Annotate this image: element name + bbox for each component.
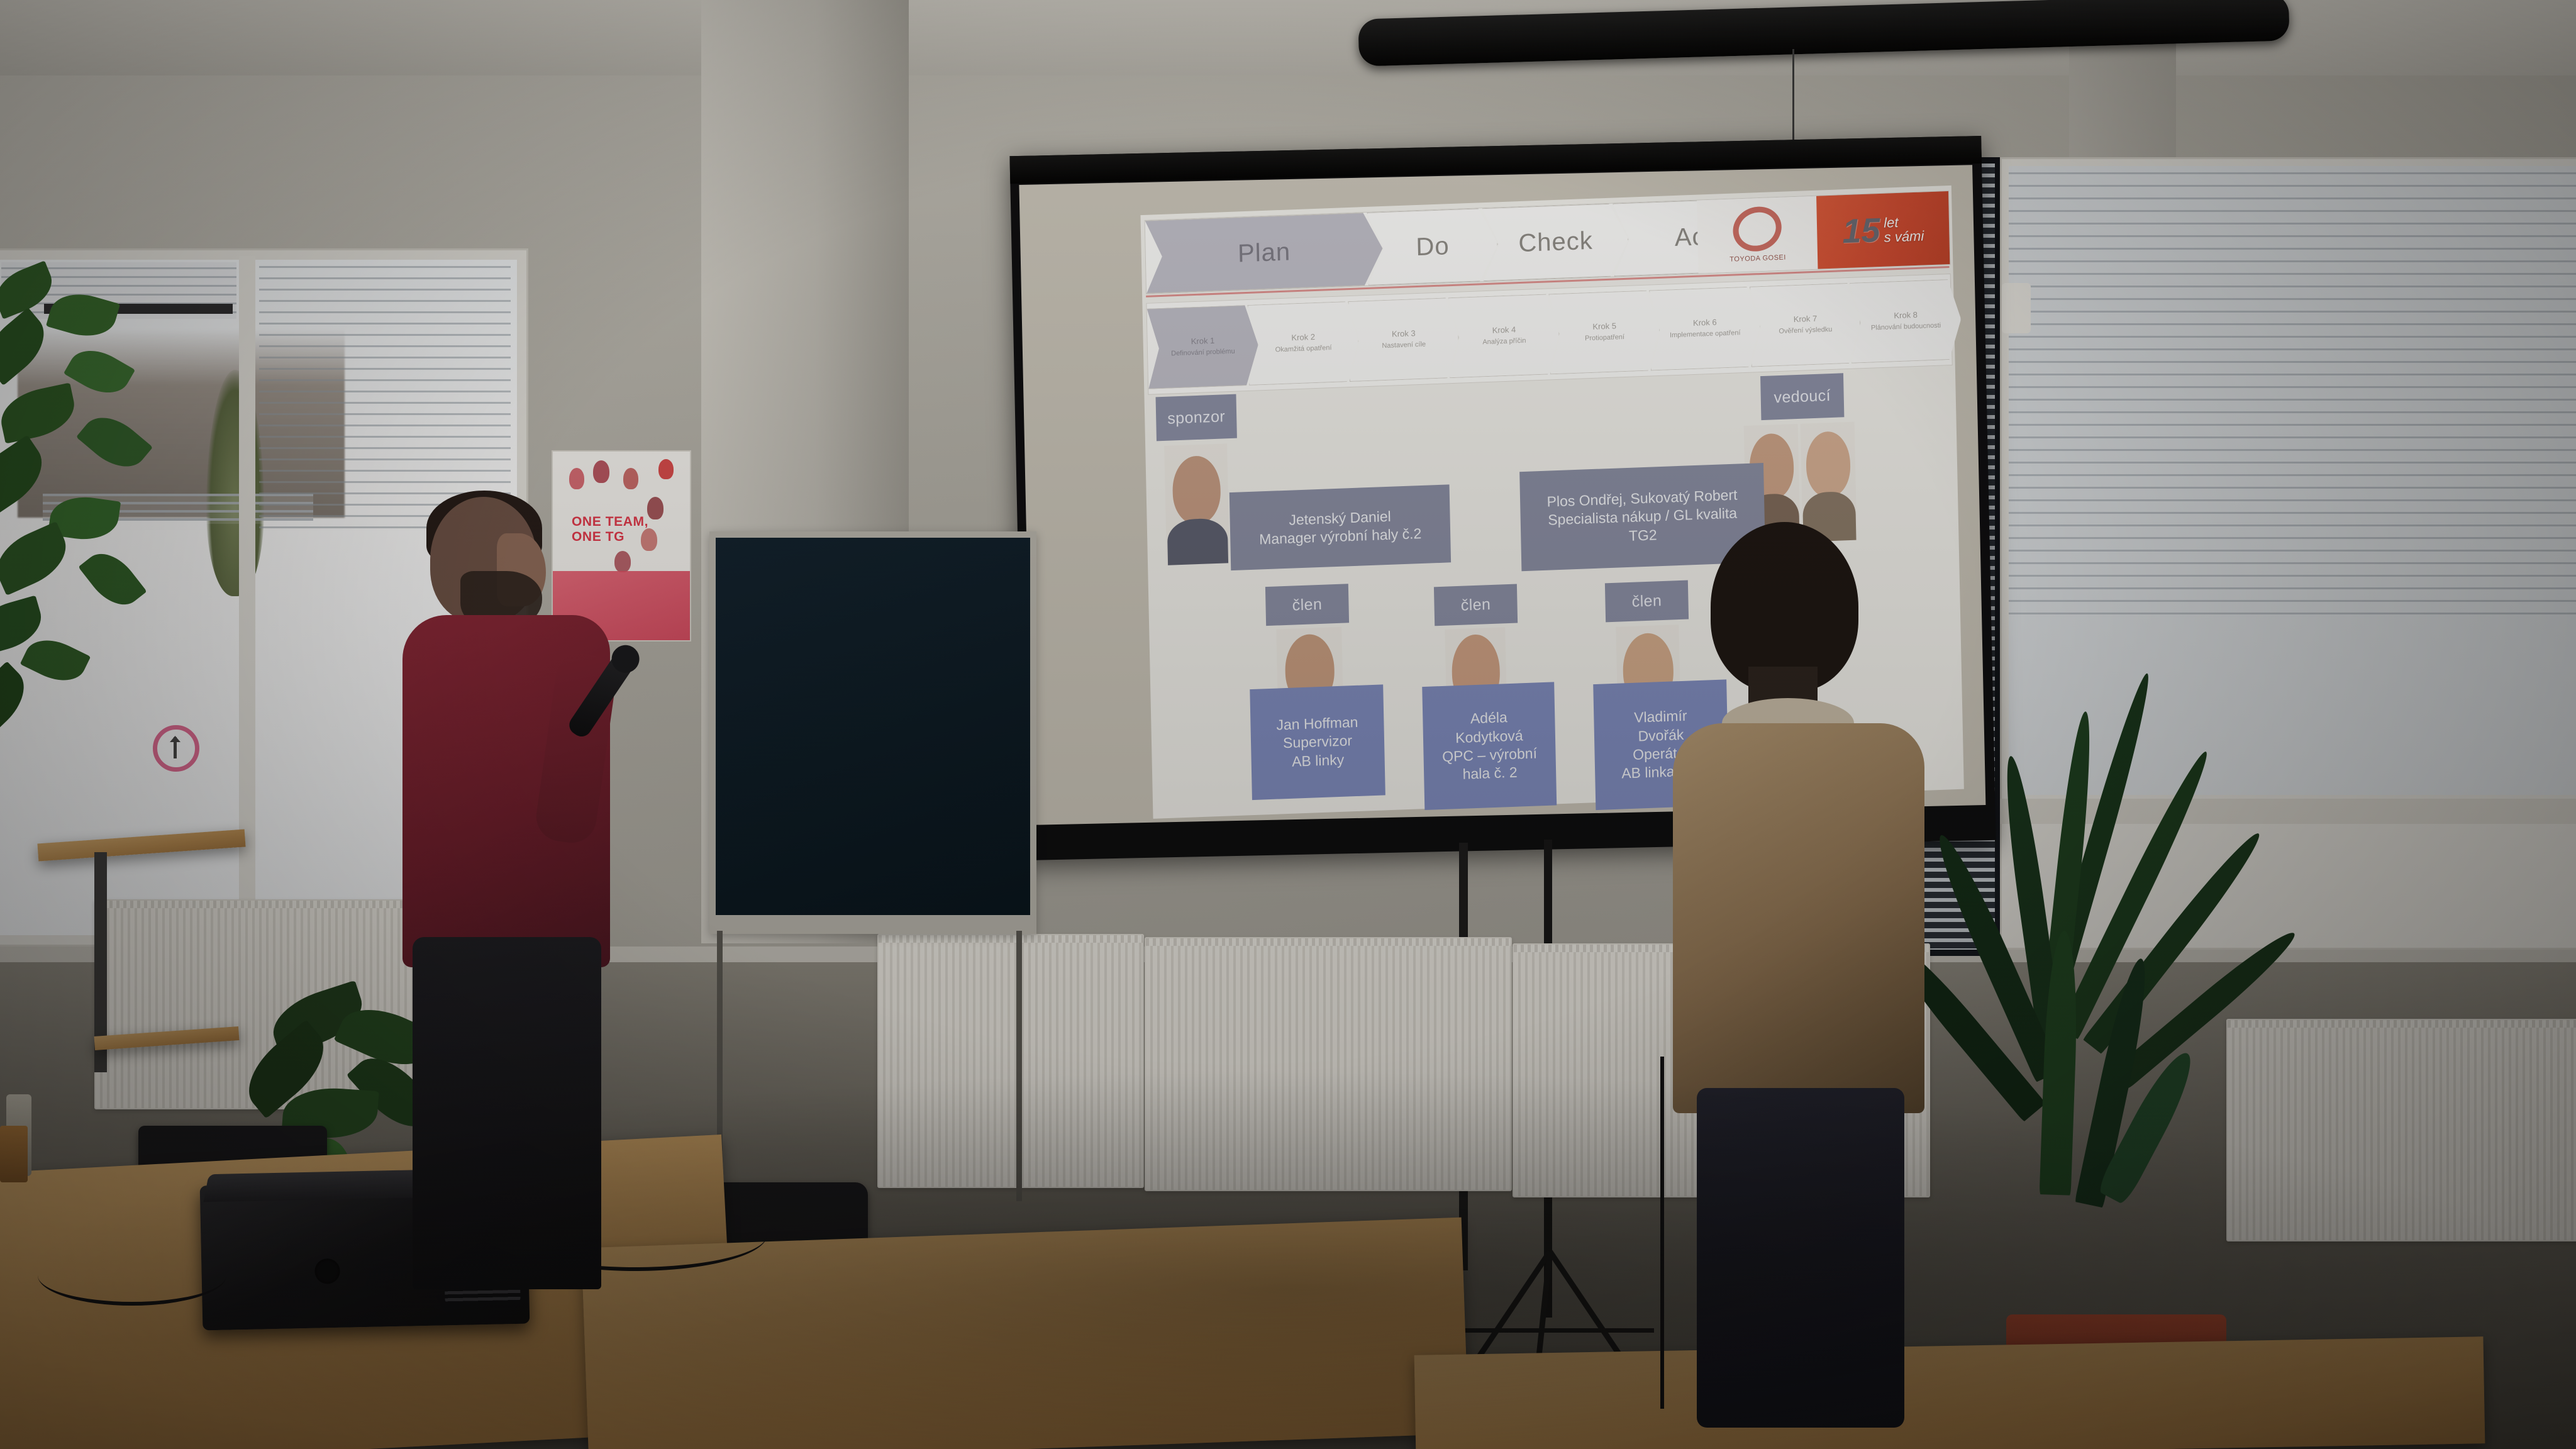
step-1[interactable]: Krok 1 Definování problému xyxy=(1147,304,1259,389)
step-8[interactable]: Krok 8 Plánování budoucnosti xyxy=(1850,279,1962,363)
poster-face-2 xyxy=(593,460,609,483)
anniversary-number: 15 xyxy=(1842,211,1880,251)
tg-logo-icon: TOYODA GOSEI xyxy=(1697,196,1818,274)
poster-face-4 xyxy=(658,459,674,479)
window-handle[interactable] xyxy=(2002,283,2031,333)
step-7[interactable]: Krok 7 Ověření výsledku xyxy=(1750,282,1862,367)
namebox-member-2: Adéla Kodytková QPC – výrobní hala č. 2 xyxy=(1422,682,1557,810)
step-3[interactable]: Krok 3 Nastavení cíle xyxy=(1348,297,1460,382)
vignette-bottom xyxy=(0,1069,2576,1449)
poster-face-1 xyxy=(569,468,584,489)
tg-mark-icon xyxy=(1727,200,1788,258)
step-6[interactable]: Krok 6 Implementace opatření xyxy=(1649,286,1761,370)
tg-logo-caption: TOYODA GOSEI xyxy=(1729,254,1786,264)
pdca-do[interactable]: Do xyxy=(1367,208,1499,286)
poster-face-5 xyxy=(647,497,663,519)
anniversary-badge: 15 let s vámi xyxy=(1816,191,1950,269)
tag-clen-1: člen xyxy=(1265,584,1349,626)
photo-sponsor xyxy=(1164,443,1230,565)
pdca-check[interactable]: Check xyxy=(1482,203,1629,281)
attendee-torso xyxy=(1673,723,1924,1113)
poster-face-3 xyxy=(623,468,638,489)
tag-vedouci: vedoucí xyxy=(1760,373,1844,420)
meeting-room-scene: Plan Do Check Act TOYODA GOSEI xyxy=(0,0,2576,1449)
tag-sponsor: sponzor xyxy=(1156,394,1237,441)
namebox-sponsor: Jetenský Daniel Manager výrobní haly č.2 xyxy=(1230,484,1451,570)
pdca-plan[interactable]: Plan xyxy=(1145,212,1384,294)
pin-board[interactable] xyxy=(716,538,1030,915)
step-4[interactable]: Krok 4 Analýza příčin xyxy=(1448,294,1560,378)
pin-board-frame xyxy=(709,531,1036,934)
brand-zone: TOYODA GOSEI 15 let s vámi xyxy=(1697,191,1950,274)
namebox-member-1: Jan Hoffman Supervizor AB linky xyxy=(1250,684,1385,800)
anniversary-text: let s vámi xyxy=(1884,214,1924,245)
step-2[interactable]: Krok 2 Okamžitá opatření xyxy=(1247,301,1359,386)
plant-left-hanging xyxy=(0,264,277,755)
step-5[interactable]: Krok 5 Protiopatření xyxy=(1548,290,1660,374)
tag-clen-2: člen xyxy=(1434,584,1518,626)
